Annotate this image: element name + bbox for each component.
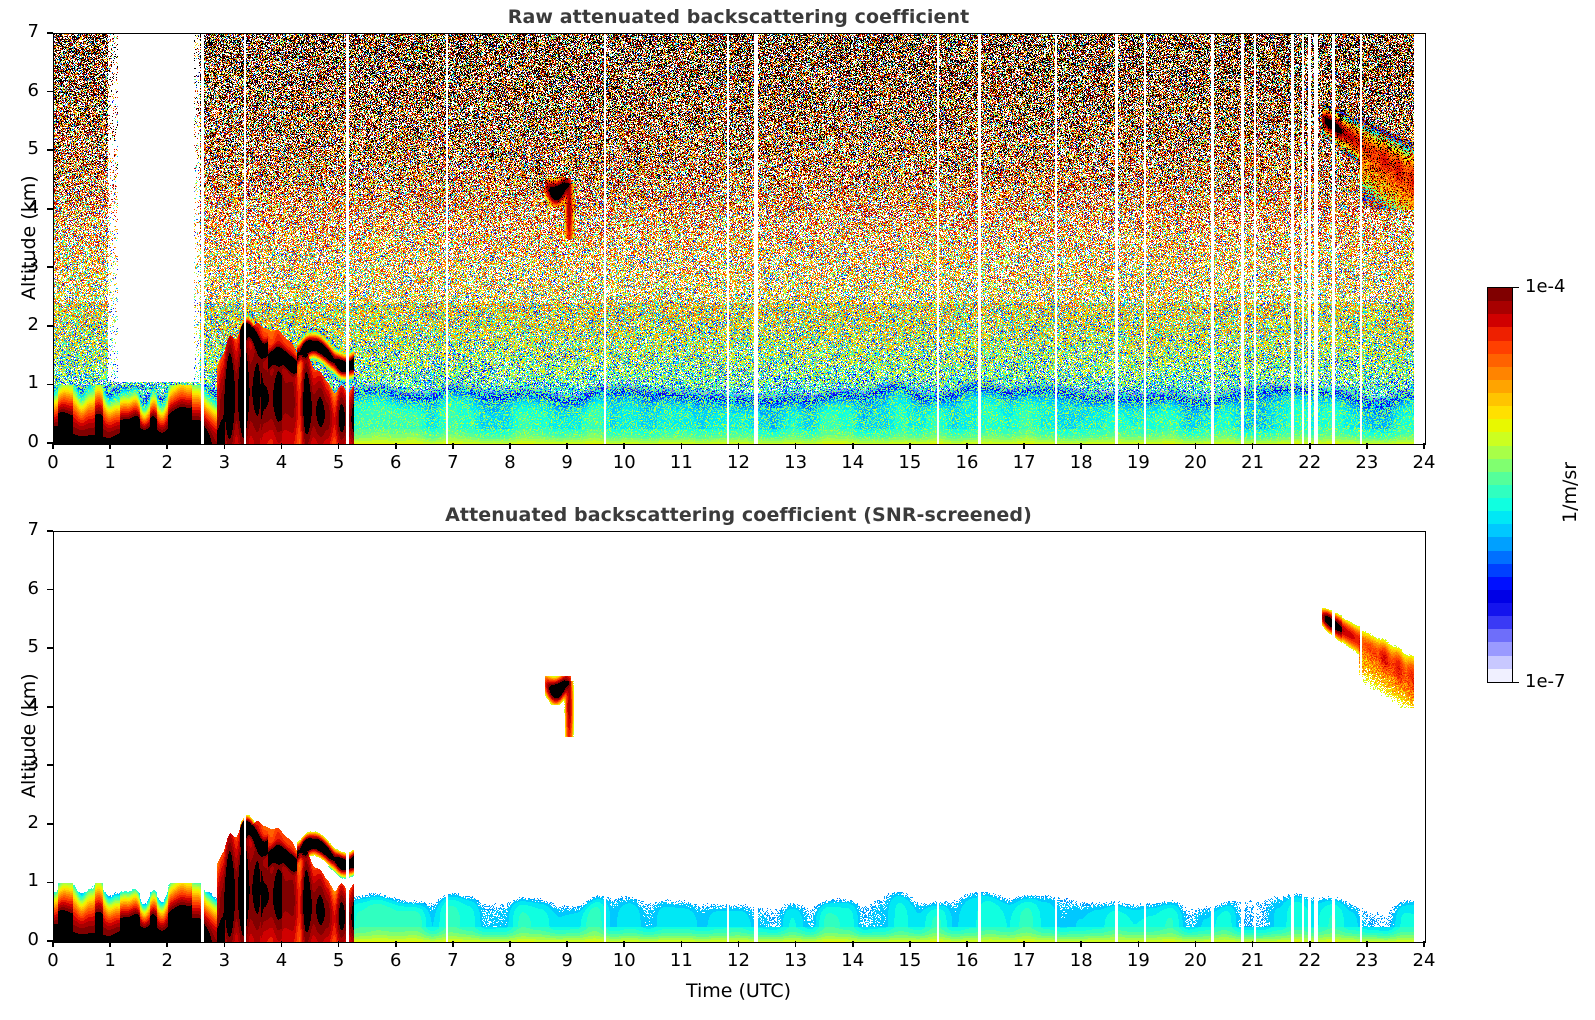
colorbar-segment [1488,419,1512,432]
colorbar-segment [1488,354,1512,367]
colorbar-unit-label: 1/m/sr [1559,462,1581,523]
colorbar-segment [1488,590,1512,603]
colorbar-segment [1488,669,1512,682]
colorbar-segment [1488,485,1512,498]
colorbar: 1e-4 1e-7 1/m/sr [0,0,1595,1020]
colorbar-segment [1488,472,1512,485]
colorbar-segment [1488,564,1512,577]
colorbar-segment [1488,367,1512,380]
colorbar-segment [1488,551,1512,564]
colorbar-segment [1488,327,1512,340]
colorbar-gradient [1487,287,1513,683]
colorbar-segment [1488,459,1512,472]
colorbar-segment [1488,380,1512,393]
colorbar-segment [1488,642,1512,655]
colorbar-segment [1488,603,1512,616]
colorbar-segment [1488,577,1512,590]
colorbar-segment [1488,288,1512,301]
colorbar-min-label: 1e-7 [1525,671,1565,692]
colorbar-segment [1488,314,1512,327]
colorbar-segment [1488,498,1512,511]
colorbar-segment [1488,511,1512,524]
colorbar-segment [1488,301,1512,314]
colorbar-max-tick [1513,287,1519,288]
colorbar-segment [1488,432,1512,445]
colorbar-segment [1488,537,1512,550]
colorbar-segment [1488,656,1512,669]
colorbar-segment [1488,406,1512,419]
colorbar-segment [1488,446,1512,459]
colorbar-segment [1488,616,1512,629]
colorbar-min-tick [1513,682,1519,683]
colorbar-max-label: 1e-4 [1525,276,1565,297]
colorbar-segment [1488,629,1512,642]
colorbar-segment [1488,341,1512,354]
colorbar-segment [1488,393,1512,406]
colorbar-segment [1488,524,1512,537]
